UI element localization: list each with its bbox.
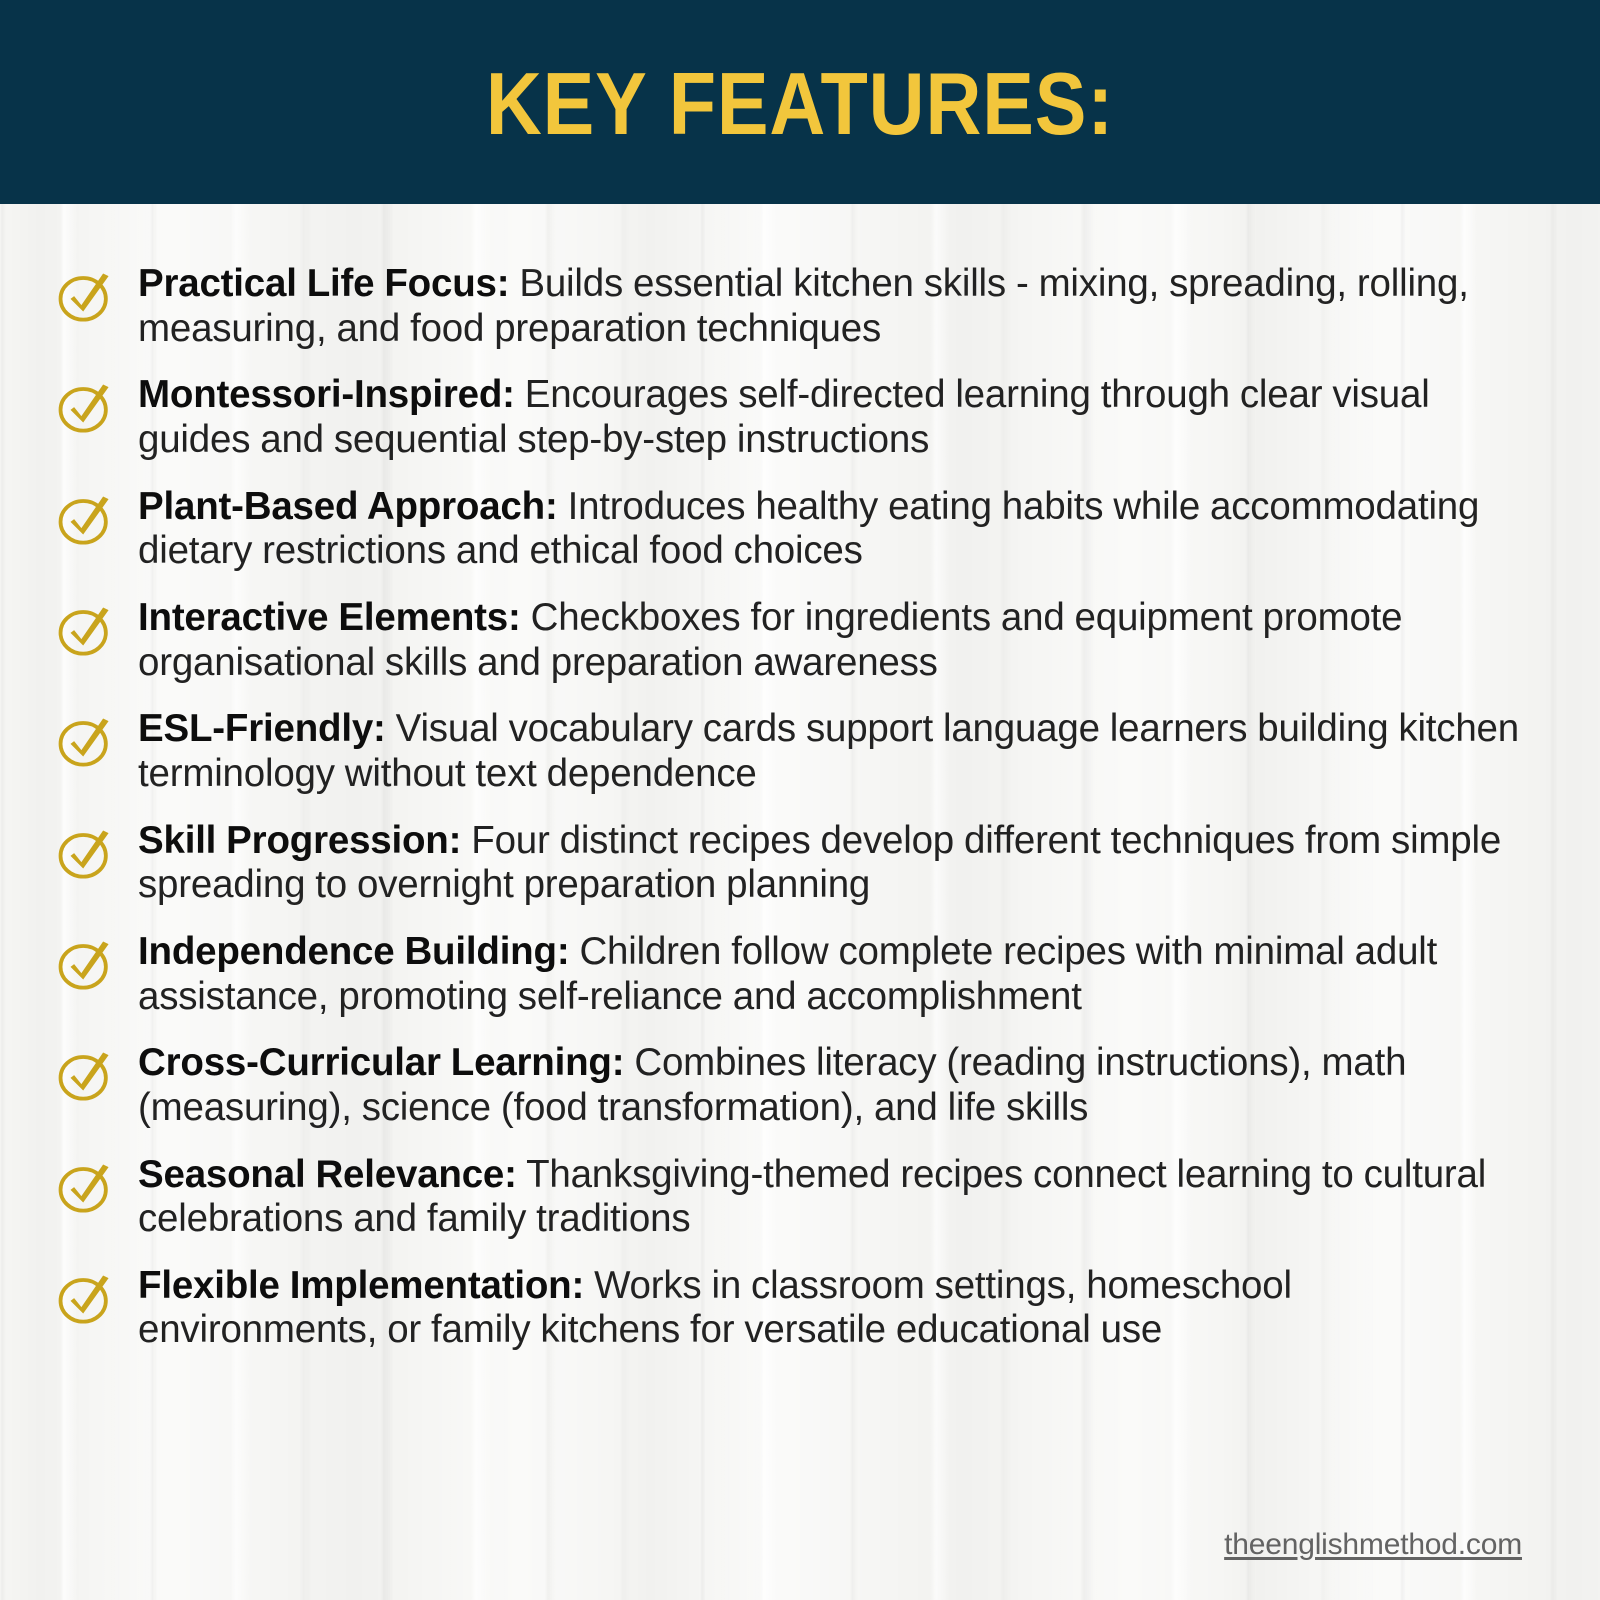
feature-title: Practical Life Focus: xyxy=(138,262,509,305)
feature-text: Interactive Elements: Checkboxes for ing… xyxy=(138,596,1530,685)
feature-text: Seasonal Relevance: Thanksgiving-themed … xyxy=(138,1153,1530,1242)
check-circle-icon xyxy=(56,379,114,437)
feature-list-item-5: ESL-Friendly: Visual vocabulary cards su… xyxy=(0,707,1530,796)
feature-text: Flexible Implementation: Works in classr… xyxy=(138,1264,1530,1353)
feature-text: Practical Life Focus: Builds essential k… xyxy=(138,262,1530,351)
feature-text: Skill Progression: Four distinct recipes… xyxy=(138,819,1530,908)
feature-text: ESL-Friendly: Visual vocabulary cards su… xyxy=(138,707,1530,796)
feature-list-item-7: Independence Building: Children follow c… xyxy=(0,930,1530,1019)
feature-title: Flexible Implementation: xyxy=(138,1264,584,1307)
feature-list-item-9: Seasonal Relevance: Thanksgiving-themed … xyxy=(0,1153,1530,1242)
features-list: Practical Life Focus: Builds essential k… xyxy=(0,262,1600,1375)
feature-title: ESL-Friendly: xyxy=(138,707,386,750)
feature-title: Seasonal Relevance: xyxy=(138,1153,517,1196)
feature-title: Independence Building: xyxy=(138,930,569,973)
feature-list-item-2: Montessori-Inspired: Encourages self-dir… xyxy=(0,373,1530,462)
feature-list-item-4: Interactive Elements: Checkboxes for ing… xyxy=(0,596,1530,685)
check-circle-icon xyxy=(56,1159,114,1217)
feature-text: Plant-Based Approach: Introduces healthy… xyxy=(138,485,1530,574)
feature-list-item-3: Plant-Based Approach: Introduces healthy… xyxy=(0,485,1530,574)
check-circle-icon xyxy=(56,491,114,549)
feature-text: Independence Building: Children follow c… xyxy=(138,930,1530,1019)
page-title: KEY FEATURES: xyxy=(486,60,1114,148)
check-circle-icon xyxy=(56,268,114,326)
feature-list-item-10: Flexible Implementation: Works in classr… xyxy=(0,1264,1530,1353)
footer: theenglishmethod.com xyxy=(1224,1528,1522,1562)
feature-title: Interactive Elements: xyxy=(138,596,521,639)
key-features-slide: KEY FEATURES: Practical Life Focus: Buil… xyxy=(0,0,1600,1600)
website-link[interactable]: theenglishmethod.com xyxy=(1224,1528,1522,1561)
check-circle-icon xyxy=(56,1047,114,1105)
check-circle-icon xyxy=(56,1270,114,1328)
feature-text: Cross-Curricular Learning: Combines lite… xyxy=(138,1041,1530,1130)
feature-text: Montessori-Inspired: Encourages self-dir… xyxy=(138,373,1530,462)
feature-title: Skill Progression: xyxy=(138,819,461,862)
check-circle-icon xyxy=(56,825,114,883)
feature-list-item-1: Practical Life Focus: Builds essential k… xyxy=(0,262,1530,351)
check-circle-icon xyxy=(56,936,114,994)
feature-list-item-8: Cross-Curricular Learning: Combines lite… xyxy=(0,1041,1530,1130)
check-circle-icon xyxy=(56,602,114,660)
check-circle-icon xyxy=(56,713,114,771)
feature-title: Montessori-Inspired: xyxy=(138,373,515,416)
feature-list-item-6: Skill Progression: Four distinct recipes… xyxy=(0,819,1530,908)
header-banner: KEY FEATURES: xyxy=(0,0,1600,204)
feature-title: Cross-Curricular Learning: xyxy=(138,1041,624,1084)
feature-title: Plant-Based Approach: xyxy=(138,485,558,528)
